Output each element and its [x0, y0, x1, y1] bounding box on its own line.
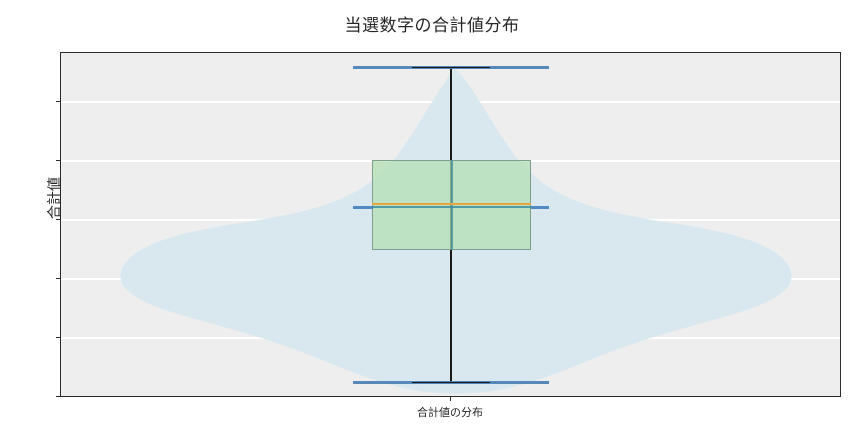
- mean-line: [372, 206, 531, 208]
- mean-line-extension-right: [531, 206, 549, 209]
- whisker-cap-top: [412, 67, 490, 69]
- median-line: [372, 203, 531, 205]
- plot-area: [60, 52, 841, 397]
- gridline-0: [61, 396, 840, 397]
- box-center-line: [451, 160, 453, 250]
- chart-title: 当選数字の合計値分布: [0, 11, 864, 36]
- x-tick-label-0: 合計値の分布: [350, 404, 550, 420]
- whisker-cap-bottom: [412, 382, 490, 384]
- x-tick-mark-0: [450, 397, 451, 401]
- figure-canvas: 当選数字の合計値分布 合計値 0 5 10 15 20 25 合計値の分布: [0, 0, 864, 432]
- mean-line-extension-left: [353, 206, 373, 209]
